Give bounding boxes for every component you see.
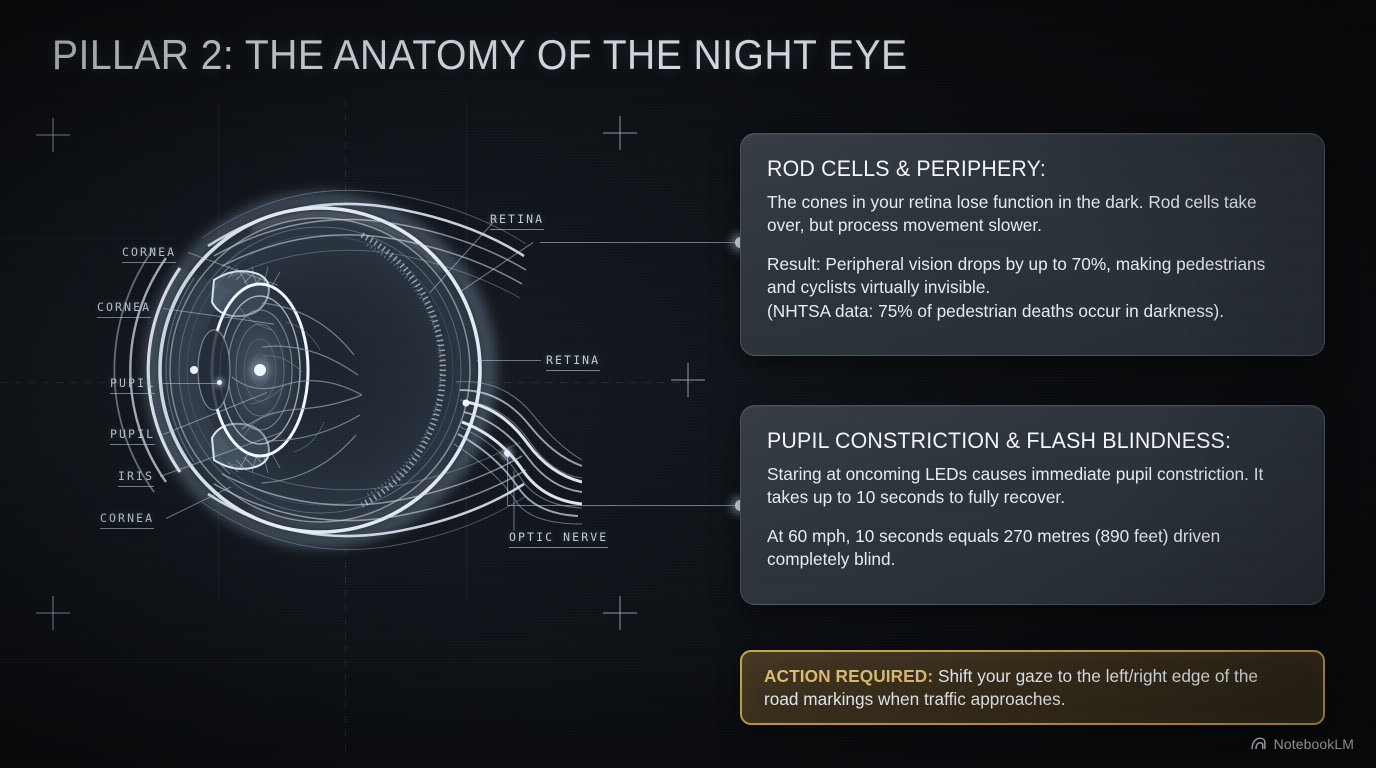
card-action-required[interactable]: ACTION REQUIRED: Shift your gaze to the … [740,650,1325,725]
action-required-label: ACTION REQUIRED: [764,666,933,686]
crosshair-marker [603,596,637,630]
connector-node-optic [504,450,510,456]
label-cornea-3: CORNEA [100,511,154,529]
card-pupil-constriction-body-2: At 60 mph, 10 seconds equals 270 metres … [767,525,1290,572]
notebooklm-label: NotebookLM [1274,736,1354,752]
card-rod-cells[interactable]: ROD CELLS & PERIPHERY: The cones in your… [740,133,1325,356]
card-rod-cells-title: ROD CELLS & PERIPHERY: [767,156,1282,182]
crosshair-marker [36,596,70,630]
label-cornea-2: CORNEA [97,300,151,318]
label-optic-nerve: OPTIC NERVE [509,530,608,548]
card-rod-cells-body-1: The cones in your retina lose function i… [767,191,1290,238]
label-cornea-1: CORNEA [122,245,176,263]
leader-dot-pupil [217,380,222,385]
label-retina-1: RETINA [490,212,544,230]
label-pupil-1: PUPIL [110,376,155,394]
card-pupil-constriction[interactable]: PUPIL CONSTRICTION & FLASH BLINDNESS: St… [740,405,1325,605]
card-rod-cells-body-2: Result: Peripheral vision drops by up to… [767,253,1290,323]
label-retina-2: RETINA [546,353,600,371]
action-required-text: ACTION REQUIRED: Shift your gaze to the … [764,665,1293,712]
card-pupil-constriction-body-1: Staring at oncoming LEDs causes immediat… [767,463,1290,510]
card-pupil-constriction-title: PUPIL CONSTRICTION & FLASH BLINDNESS: [767,428,1282,454]
label-pupil-2: PUPIL [110,427,155,445]
notebooklm-logo-icon [1250,735,1267,752]
crosshair-marker [36,118,70,152]
label-iris: IRIS [118,469,154,487]
crosshair-marker [671,363,705,397]
slide-canvas: PILLAR 2: THE ANATOMY OF THE NIGHT EYE [0,0,1376,768]
notebooklm-watermark: NotebookLM [1250,735,1354,752]
crosshair-marker [603,116,637,150]
page-title: PILLAR 2: THE ANATOMY OF THE NIGHT EYE [52,33,908,77]
